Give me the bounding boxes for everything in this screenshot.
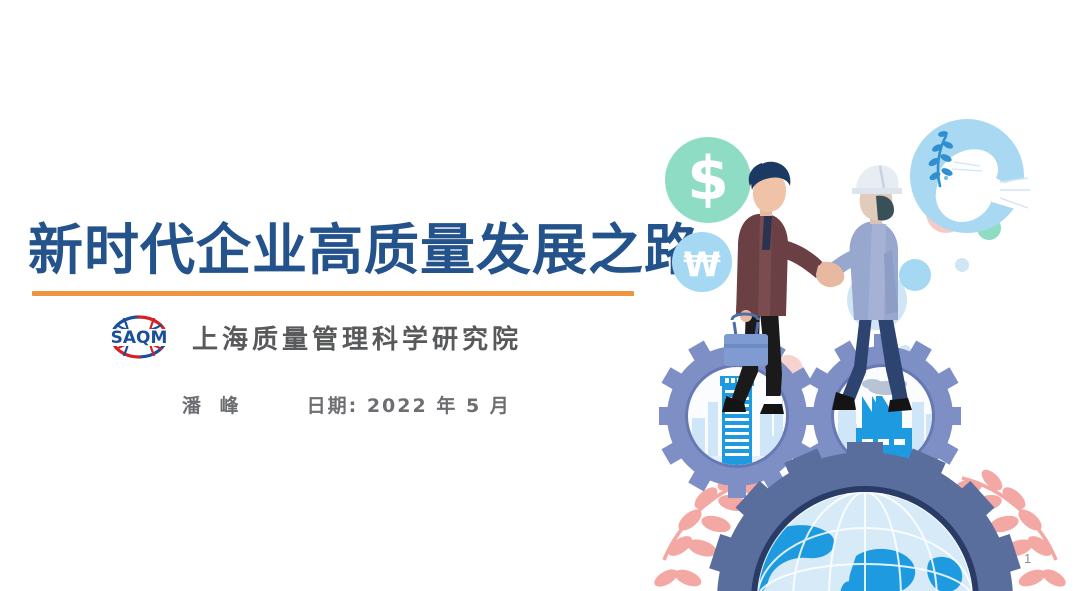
- saqm-logo: SAQM: [104, 311, 174, 363]
- blue-circle-right: [899, 259, 931, 291]
- dove-olive-branch-icon: [910, 119, 1032, 233]
- page-number: 1: [1024, 551, 1031, 566]
- presentation-date: 日期: 2022 年 5 月: [307, 391, 511, 418]
- organization-name: 上海质量管理科学研究院: [192, 319, 522, 356]
- dollar-sign-glyph: $: [687, 144, 729, 214]
- title-block: 新时代企业高质量发展之路: [0, 0, 660, 591]
- organization-row: SAQM 上海质量管理科学研究院: [104, 311, 522, 363]
- slide-canvas: 新时代企业高质量发展之路: [0, 0, 1080, 591]
- pale-dot-right: [955, 258, 969, 272]
- byline: 潘 峰 日期: 2022 年 5 月: [182, 391, 511, 418]
- saqm-logo-icon: SAQM: [104, 311, 174, 363]
- cover-illustration: $ ₩: [640, 0, 1080, 591]
- hard-hat-icon: [856, 165, 899, 190]
- saqm-logo-text: SAQM: [111, 328, 168, 348]
- title-divider: [32, 291, 634, 296]
- presenter-name: 潘 峰: [182, 391, 245, 418]
- won-sign-glyph: ₩: [683, 245, 721, 285]
- page-title: 新时代企业高质量发展之路: [28, 218, 648, 282]
